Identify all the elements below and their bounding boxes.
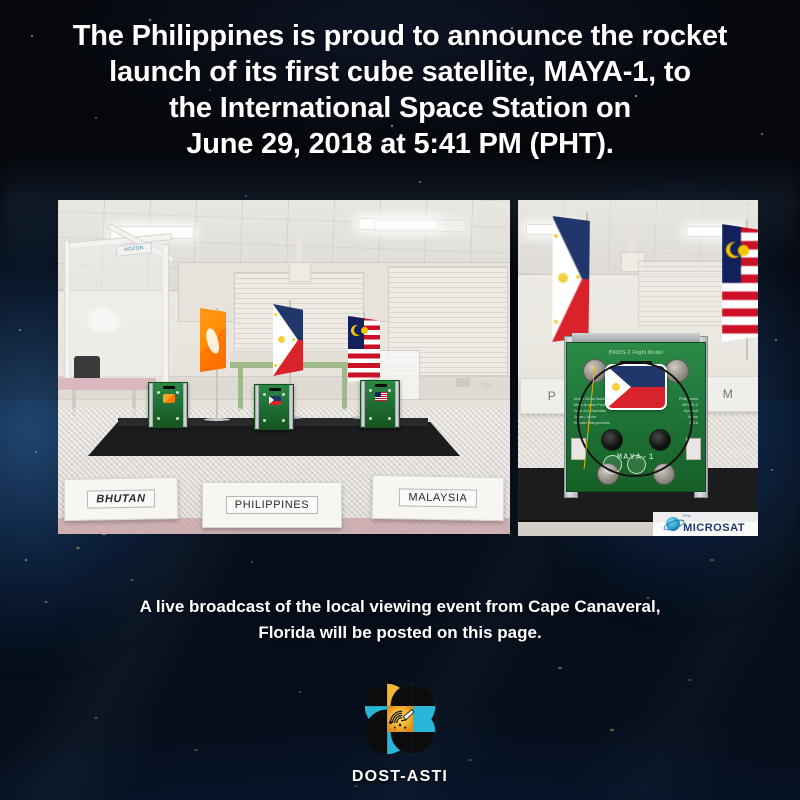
ceiling-light-3 (374, 220, 466, 232)
logo-block: DOST-ASTI (0, 676, 800, 786)
malaysia-flag-closeup (722, 224, 758, 342)
ph-flag-sun (278, 336, 285, 343)
outlet-plate (456, 378, 470, 387)
watermark-label: MICROSAT (683, 522, 745, 534)
ph-flag-sun (558, 273, 568, 283)
placard-bhutan: BHUTAN (64, 477, 179, 521)
cubesat-connector (163, 386, 175, 389)
bhutan-flag (200, 308, 226, 372)
cubesat-screw-tl (263, 393, 266, 396)
duct-nozzle (289, 262, 311, 282)
cart-shelf (380, 364, 416, 372)
cubesat-screw-tr (282, 393, 285, 396)
bhutan-cubesat (148, 382, 188, 428)
caption: A live broadcast of the local viewing ev… (0, 594, 800, 646)
bhutan-flag-sticker (163, 394, 175, 403)
photo-cubesats-group: HOZON (58, 200, 510, 534)
placard-bg-label-left: P (540, 387, 565, 405)
cubesat-screw-tr (176, 391, 179, 394)
philippines-flag-closeup (552, 216, 590, 342)
cubesat-screw-br (176, 417, 179, 420)
sticker-triangle (269, 396, 274, 404)
ph-flag-star-right (292, 338, 295, 341)
headline-line-2: launch of its first cube satellite, MAYA… (18, 54, 782, 90)
ph-flag-star-bottom (554, 320, 558, 324)
headline: The Philippines is proud to announce the… (0, 18, 800, 162)
bhutan-dragon-emblem (204, 328, 221, 355)
cubesat-connector (269, 388, 281, 391)
cubesat-pcb-face (365, 381, 395, 427)
green-bench-leg-1 (238, 368, 243, 410)
cubesat-rail-right (289, 385, 293, 429)
cubesat-screw-tl (369, 389, 372, 392)
cubesat-pcb-face (259, 385, 289, 429)
malaysia-flag-sticker (375, 392, 387, 401)
hanging-duct (296, 226, 302, 264)
sticker-canton (375, 392, 381, 397)
placard-philippines-label: PHILIPPINES (226, 496, 318, 514)
headline-line-1: The Philippines is proud to announce the… (18, 18, 782, 54)
cleanroom-scene: HOZON (58, 200, 510, 534)
hanging-duct (628, 220, 635, 256)
philippines-flag (273, 304, 303, 376)
maya1-board-title: BIRDS-2 Flight Model (567, 350, 705, 356)
cubesat-connector (375, 384, 387, 387)
cubesat-screw-tr (388, 389, 391, 392)
cubesat-screw-bl (157, 417, 160, 420)
dost-asti-logo-icon (357, 676, 443, 762)
ph-flag-star-bottom (274, 364, 277, 367)
watermark-text-block: PHL MICROSAT (683, 513, 745, 536)
placard-malaysia: MALAYSIA (372, 475, 505, 521)
ph-flag-star-right (576, 275, 580, 279)
microsat-globe-icon (666, 517, 680, 531)
headline-line-3: the International Space Station on (18, 90, 782, 126)
cubesat-screw-br (388, 417, 391, 420)
maya1-antenna-wire (577, 361, 693, 477)
cleanroom-scene-closeup: P M (518, 200, 758, 536)
maya1-satellite: BIRDS-2 Flight Model (566, 342, 706, 492)
phl-microsat-watermark: PHL MICROSAT (653, 512, 758, 536)
my-flag-star (738, 245, 749, 256)
cubesat-screw-bl (263, 419, 266, 422)
photo-band: HOZON (0, 176, 800, 568)
cubesat-screw-bl (369, 417, 372, 420)
maya1-pcb-face: BIRDS-2 Flight Model (566, 342, 706, 492)
wall-outlet (482, 382, 492, 389)
caption-line-1: A live broadcast of the local viewing ev… (60, 594, 740, 620)
malaysia-flag (348, 316, 380, 382)
cubesat-rail-right (395, 381, 399, 427)
placard-bg-label-right: M (715, 385, 742, 403)
green-bench-leg-2 (342, 368, 347, 410)
placard-malaysia-label: MALAYSIA (399, 488, 476, 507)
cubesat-screw-br (282, 419, 285, 422)
dost-asti-label: DOST-ASTI (0, 768, 800, 786)
photo-maya1-closeup: P M (518, 200, 758, 536)
watermark-prefix: PHL (683, 513, 745, 518)
placard-bhutan-label: BHUTAN (87, 489, 155, 508)
headline-line-4: June 29, 2018 at 5:41 PM (PHT). (18, 126, 782, 162)
malaysia-cubesat (360, 380, 400, 428)
cubesat-rail-right (183, 383, 187, 427)
ph-flag-star-top (554, 234, 558, 238)
pink-workbench (58, 378, 156, 390)
philippines-flag-sticker (269, 396, 281, 405)
cubesat-pcb-face (153, 383, 183, 427)
bhutan-flag-base (204, 418, 230, 421)
caption-line-2: Florida will be posted on this page. (60, 620, 740, 646)
placard-philippines: PHILIPPINES (202, 482, 342, 528)
my-flag-star (361, 327, 368, 334)
poster-canvas: The Philippines is proud to announce the… (0, 0, 800, 800)
ph-flag-star-top (274, 313, 277, 316)
philippines-cubesat (254, 384, 294, 430)
microscope (74, 356, 100, 378)
cubesat-screw-tl (157, 391, 160, 394)
